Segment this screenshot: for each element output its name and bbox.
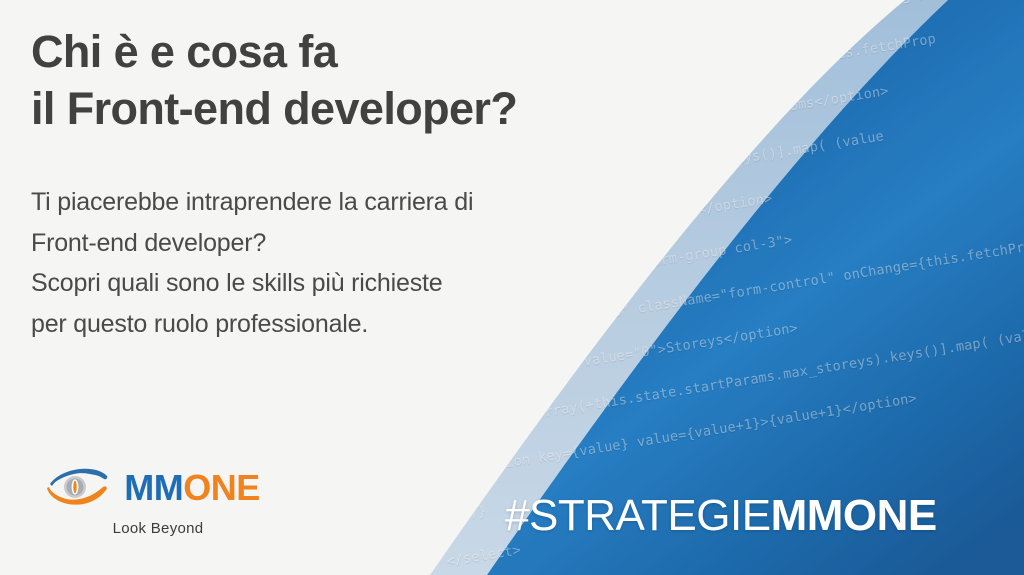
promo-slide: lassName="form-group col-3"> Change={thi…	[0, 0, 1024, 575]
campaign-hashtag: #STRATEGIEMMONE	[505, 494, 937, 538]
hashtag-suffix: MMONE	[771, 491, 937, 540]
logo-word-one: ONE	[183, 467, 260, 508]
subcopy-line-2: Front-end developer?	[31, 223, 671, 264]
subcopy-line-1: Ti piacerebbe intraprendere la carriera …	[31, 182, 671, 223]
hashtag-prefix: #STRATEGIE	[505, 491, 771, 540]
logo-tagline: Look Beyond	[113, 520, 204, 537]
logo-row: MMONE	[42, 465, 260, 511]
page-title: Chi è e cosa fa il Front-end developer?	[31, 24, 731, 137]
headline-line-1: Chi è e cosa fa	[31, 24, 731, 81]
subtitle-paragraph: Ti piacerebbe intraprendere la carriera …	[31, 182, 671, 344]
subcopy-line-3: Scopri quali sono le skills più richiest…	[31, 263, 671, 304]
logo-wordmark: MMONE	[124, 470, 260, 506]
headline-line-2: il Front-end developer?	[31, 81, 731, 138]
eye-logo-icon	[42, 465, 114, 511]
subcopy-line-4: per questo ruolo professionale.	[31, 304, 671, 345]
logo-word-mm: MM	[124, 467, 183, 508]
brand-logo: MMONE Look Beyond	[26, 465, 276, 537]
